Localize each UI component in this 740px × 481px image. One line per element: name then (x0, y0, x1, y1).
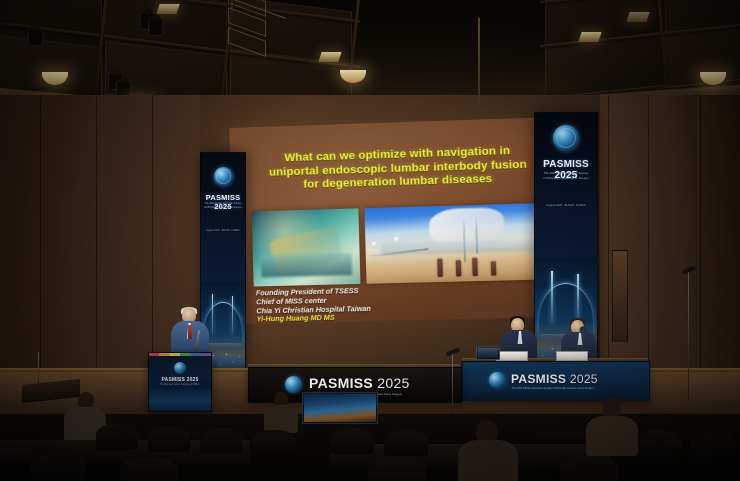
presenter-tie (188, 325, 192, 339)
head-table-right-title: PASMISS 2025 (511, 372, 598, 386)
banner-right-subtitle: The 20th Pacific and Asian Society (536, 171, 596, 175)
audience-chair (330, 428, 374, 454)
audience-chair (368, 458, 426, 481)
head-table-right-skirt: PASMISS 2025 The 20th Pacific and Asian … (462, 361, 650, 401)
pasmiss-globe-logo-icon (214, 167, 233, 186)
projection-screen: What can we optimize with navigation in … (229, 117, 571, 324)
audience-chair (560, 456, 618, 481)
pasmiss-globe-logo-icon (174, 362, 186, 374)
navigated-spine-surgery-photo (364, 203, 555, 284)
head-table-front-title: PASMISS 2025 (309, 375, 410, 391)
audience-chair (252, 430, 296, 456)
pasmiss-globe-logo-icon (553, 125, 579, 151)
podium: PASMISS 2025 Pacific and Asian Society o… (148, 352, 212, 412)
audience-chair (384, 430, 428, 456)
laptop-screen (478, 348, 498, 358)
audience-chair (148, 426, 190, 452)
wall-light-niche (612, 250, 628, 342)
operating-room-photo (252, 208, 361, 286)
stage-spotlight-fixture (28, 28, 43, 46)
laptop (476, 346, 500, 360)
name-placard (556, 351, 588, 361)
podium-cityscape-image (149, 389, 211, 411)
audience-chair (96, 424, 138, 450)
podium-subtitle: Pacific and Asian Society of MISS (149, 383, 211, 386)
audience-chair (200, 428, 242, 454)
head-table-right-year: 2025 (570, 372, 598, 386)
ceiling-downlight (318, 52, 341, 62)
banner-left-subtitle-2: of Minimally Invasive Spine Surgery (202, 206, 244, 209)
slide-photo-row (252, 203, 556, 287)
audience-chair (120, 458, 178, 481)
floor-microphone-stand (38, 352, 39, 388)
name-placard (496, 351, 528, 361)
head-table-front-year: 2025 (377, 375, 409, 391)
banner-left-subtitle: The 20th Pacific and Asian Society (202, 202, 244, 205)
ceiling-downlight (626, 12, 649, 22)
conference-hall-photo: What can we optimize with navigation in … (0, 0, 740, 481)
ceiling-downlight (156, 4, 179, 14)
slide-credits: Founding President of TSESS Chief of MIS… (256, 287, 371, 324)
podium-color-stripe (149, 353, 211, 356)
pasmiss-globe-logo-icon (285, 376, 302, 393)
banner-right-subtitle-2: of Minimally Invasive Spine Surgery (536, 176, 596, 180)
floor-microphone-stand (452, 352, 453, 414)
stage-spotlight-fixture (148, 18, 163, 36)
audience-chair (636, 430, 682, 458)
pasmiss-globe-logo-icon (489, 372, 505, 388)
audience-chair (690, 432, 736, 460)
audience-chair (30, 454, 86, 481)
floor-microphone-stand (688, 270, 689, 400)
ceiling-downlight (578, 32, 601, 42)
confidence-monitor-image (304, 394, 376, 422)
stage-confidence-monitor (302, 392, 378, 424)
banner-right-venue: August 2025 · BUSAN, KOREA (535, 203, 597, 207)
head-table-right-title-text: PASMISS (511, 372, 566, 386)
banner-left-venue: August 2025 · BUSAN, KOREA (201, 229, 245, 232)
head-table-right-subtitle: The 20th Pacific and Asian Society of Mi… (512, 387, 594, 390)
head-table-front-title-text: PASMISS (309, 375, 373, 391)
